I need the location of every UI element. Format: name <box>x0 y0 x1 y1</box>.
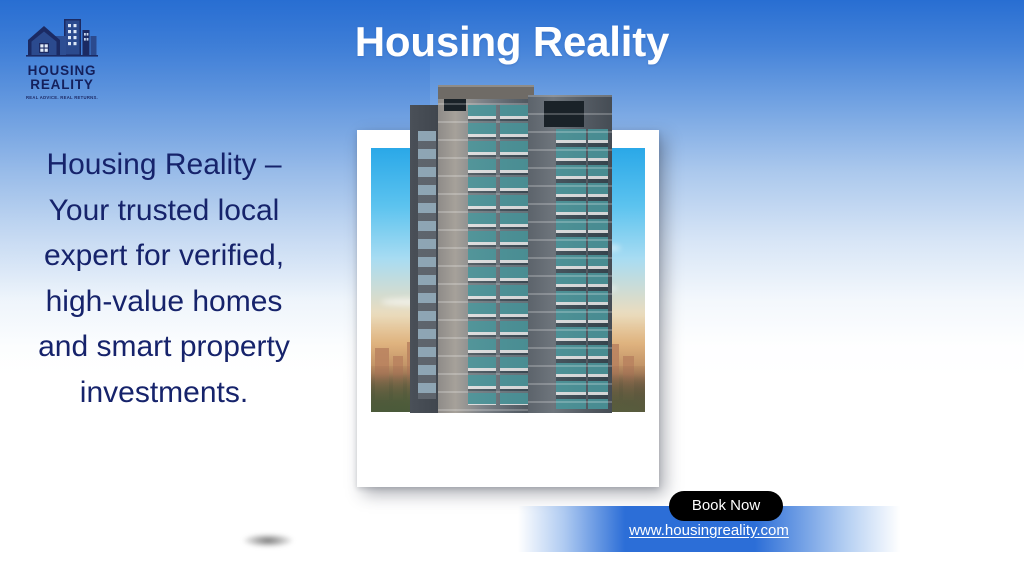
website-link[interactable]: www.housingreality.com <box>518 522 900 539</box>
logo-tagline: REAL ADVICE. REAL RETURNS. <box>16 95 108 100</box>
body-copy: Housing Reality – Your trusted local exp… <box>24 142 304 415</box>
book-now-button[interactable]: Book Now <box>669 491 783 521</box>
house-and-buildings-icon <box>24 16 100 64</box>
decorative-shadow <box>243 534 293 547</box>
logo-word-housing: HOUSING <box>16 64 108 78</box>
poster-canvas: HOUSING REALITY REAL ADVICE. REAL RETURN… <box>0 0 1024 576</box>
brand-logo[interactable]: HOUSING REALITY REAL ADVICE. REAL RETURN… <box>16 16 108 102</box>
logo-word-reality: REALITY <box>16 78 108 92</box>
page-title: Housing Reality <box>280 18 744 66</box>
tower-graphic <box>410 85 612 413</box>
